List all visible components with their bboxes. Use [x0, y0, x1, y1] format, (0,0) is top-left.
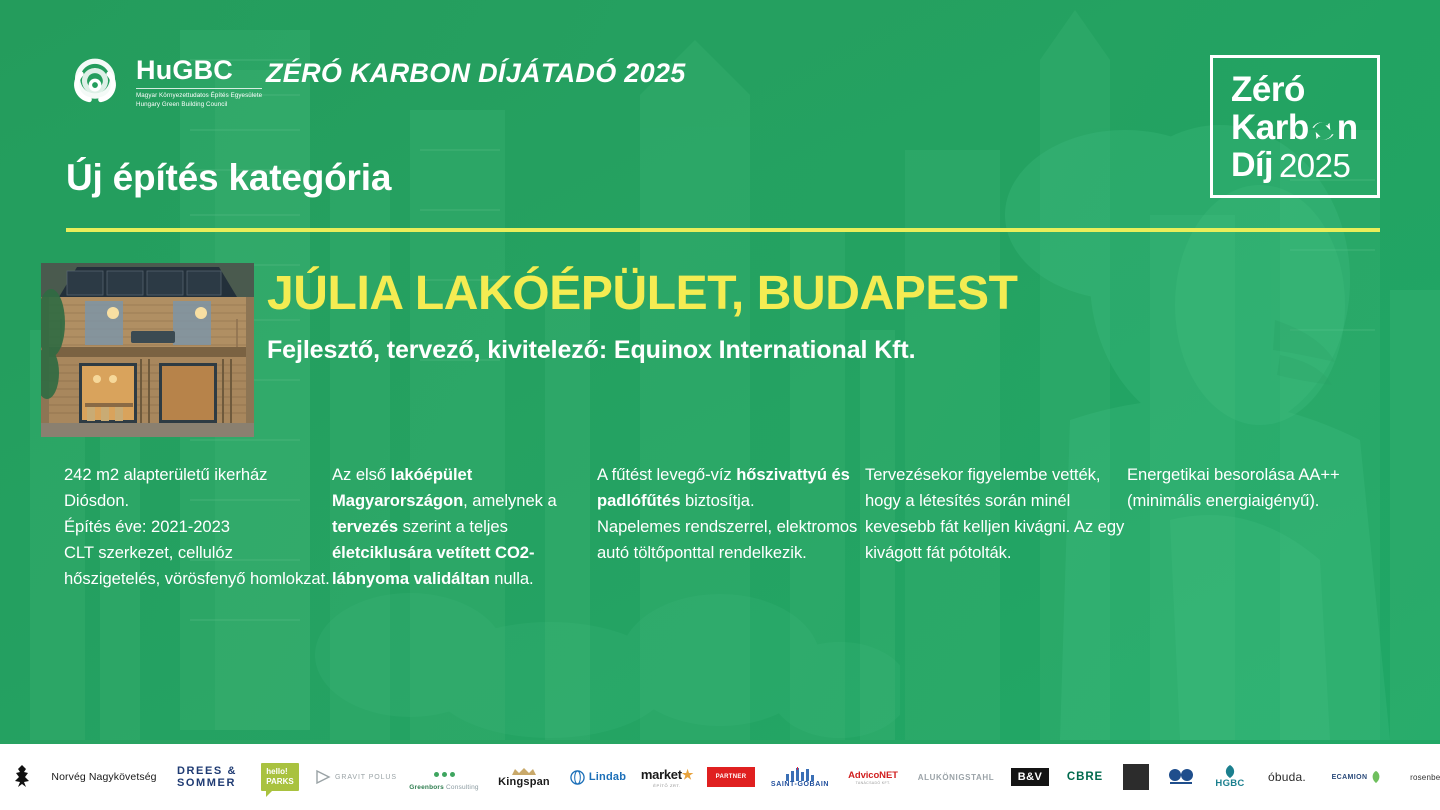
fact-columns: 242 m2 alapterületű ikerház Diósdon.Épít… [64, 462, 1384, 591]
lindab-globe-icon [570, 770, 585, 785]
fact-text-bold: tervezés [332, 517, 398, 536]
project-title: JÚLIA LAKÓÉPÜLET, BUDAPEST [267, 266, 1018, 321]
sponsor-greenbors-consulting[interactable]: Greenbors Consulting [402, 744, 486, 810]
hugbc-divider [136, 88, 262, 89]
wooden-house-illustration [41, 263, 254, 437]
badge-line-karbon: Karb n [1231, 110, 1358, 145]
saint-gobain-skyline-icon [783, 767, 817, 781]
fact-text: biztosítja. [680, 491, 754, 510]
sponsor-label: Kingspan [498, 776, 550, 788]
sponsor-adviconet[interactable]: AdvicoNET TANÁCSADÓ KFT. [838, 744, 908, 810]
sponsor-label: ECAMION [1332, 774, 1368, 781]
hugbc-trefoil-icon [66, 52, 124, 110]
slide-header: HuGBC Magyar Környezettudatos Építés Egy… [0, 0, 1440, 140]
sponsor-hello-parks[interactable]: hello! PARKS [250, 744, 310, 810]
sponsor-lindab[interactable]: Lindab [562, 744, 634, 810]
fact-text: A fűtést levegő-víz [597, 465, 736, 484]
sponsor-norway-crest[interactable] [0, 744, 44, 810]
badge-dij-text: Díj [1231, 148, 1273, 182]
hugbc-wordmark: HuGBC [136, 56, 262, 84]
hugbc-subtitle-en: Hungary Green Building Council [136, 101, 262, 110]
sponsor-label: CBRE [1067, 771, 1103, 783]
sponsor-kingspan[interactable]: Kingspan [486, 744, 562, 810]
fact-text: Napelemes rendszerrel, elektromos autó t… [597, 517, 857, 562]
drees-line1: DREES & [177, 765, 237, 777]
zero-carbon-award-badge: Zéró Karb n Díj 2025 [1210, 55, 1380, 198]
sponsor-hgbc[interactable]: HGBC [1204, 744, 1256, 810]
fact-line: CLT szerkezet, cellulóz hőszigetelés, vö… [64, 540, 332, 592]
sponsor-label: Norvég Nagykövetség [51, 771, 156, 783]
drees-line2: SOMMER [177, 777, 236, 789]
fact-line: Építés éve: 2021-2023 [64, 514, 332, 540]
fact-text: szerint a teljes [398, 517, 508, 536]
sponsor-label: AdvicoNET [848, 770, 898, 781]
event-title: ZÉRÓ KARBON DÍJÁTADÓ 2025 [266, 58, 686, 89]
background-portrait-silhouette [920, 120, 1440, 740]
fact-column-first-in-hungary: Az első lakóépület Magyarországon, amely… [332, 462, 597, 591]
sponsor-obuda[interactable]: óbuda. [1256, 744, 1318, 810]
fact-line: Tervezésekor figyelembe vették, hogy a l… [865, 462, 1127, 566]
sponsor-label: Lindab [589, 771, 626, 783]
badge-line-zero: Zéró [1231, 72, 1358, 107]
fact-column-heating: A fűtést levegő-víz hőszivattyú és padló… [597, 462, 865, 591]
market-word: market [641, 767, 682, 782]
fact-line: 242 m2 alapterületű ikerház Diósdon. [64, 462, 332, 514]
badge-year: 2025 [1279, 149, 1350, 182]
sponsor-label: ALUKÖNIGSTAHL [918, 773, 995, 782]
sponsor-label: hello! PARKS [261, 763, 298, 790]
fact-column-trees: Tervezésekor figyelembe vették, hogy a l… [865, 462, 1127, 591]
sponsor-market[interactable]: market★ ÉPÍTŐ ZRT. [634, 744, 700, 810]
greenbors-dots [434, 764, 455, 782]
sponsor-rosenberg[interactable]: rosenberg [1396, 744, 1440, 810]
sponsor-norveg-nagykovetseg[interactable]: Norvég Nagykövetség [44, 744, 164, 810]
sponsor-alukonigstahl[interactable]: ALUKÖNIGSTAHL [908, 744, 1004, 810]
sponsor-label: SAINT-GOBAIN [771, 781, 829, 788]
market-sub: ÉPÍTŐ ZRT. [653, 783, 680, 788]
sponsor-label: DREES & SOMMER [177, 765, 237, 790]
sponsor-label: B&V [1011, 768, 1049, 786]
sponsor-bv[interactable]: B&V [1004, 744, 1056, 810]
adviconet-sub: TANÁCSADÓ KFT. [856, 781, 891, 785]
project-subtitle: Fejlesztő, tervező, kivitelező: Equinox … [267, 336, 915, 365]
fact-text: , amelynek a [463, 491, 556, 510]
sponsor-label: óbuda. [1268, 770, 1306, 784]
sponsor-saint-gobain[interactable]: SAINT-GOBAIN [762, 744, 838, 810]
badge-n-text: n [1337, 110, 1358, 145]
hugbc-subtitle-hu: Magyar Környezettudatos Építés Egyesület… [136, 92, 262, 101]
hugbc-logo: HuGBC Magyar Környezettudatos Építés Egy… [66, 52, 262, 110]
sponsor-label: GRAVIT POLUS [335, 774, 397, 781]
blue-eyes-icon [1168, 768, 1194, 786]
fact-text: nulla. [490, 569, 534, 588]
sponsor-logo-mark [1123, 764, 1149, 790]
ecamion-leaf-icon [1370, 771, 1382, 783]
hello-line1: hello! [266, 767, 293, 776]
sponsor-label: market★ [641, 767, 693, 783]
sponsor-dark-mark[interactable] [1114, 744, 1158, 810]
badge-karb-text: Karb [1231, 110, 1309, 145]
sponsor-drees-sommer[interactable]: DREES & SOMMER [164, 744, 250, 810]
greenbors-name: Greenbors [409, 784, 444, 791]
sponsor-label: rosenberg [1410, 773, 1440, 782]
hgbc-leaf-icon [1222, 765, 1238, 778]
sponsor-gravit-polus[interactable]: GRAVIT POLUS [310, 744, 402, 810]
category-title: Új építés kategória [66, 157, 391, 199]
sponsor-label: PARTNER [707, 767, 756, 787]
fact-column-specs: 242 m2 alapterületű ikerház Diósdon.Épít… [64, 462, 332, 591]
yellow-divider-rule [66, 228, 1380, 232]
kingspan-crown-icon [511, 767, 537, 776]
fact-text: Az első [332, 465, 391, 484]
sponsor-bar: Norvég Nagykövetség DREES & SOMMER hello… [0, 744, 1440, 810]
sponsor-label: HGBC [1215, 778, 1244, 789]
sponsor-red-partner[interactable]: PARTNER [700, 744, 762, 810]
hello-line2: PARKS [266, 777, 293, 786]
sponsor-blue-mark[interactable] [1158, 744, 1204, 810]
fact-column-energy-rating: Energetikai besorolása AA++ (minimális e… [1127, 462, 1384, 591]
greenbors-suffix: Consulting [446, 784, 479, 791]
sponsor-label: Greenbors Consulting [409, 784, 478, 791]
sponsor-cbre[interactable]: CBRE [1056, 744, 1114, 810]
badge-line-dij-year: Díj 2025 [1231, 148, 1358, 182]
gravit-triangle-icon [315, 769, 331, 785]
norway-lion-crest-icon [11, 764, 33, 790]
fact-line: Energetikai besorolása AA++ (minimális e… [1127, 462, 1384, 514]
project-photo [41, 263, 254, 437]
recycle-o-icon [1310, 118, 1336, 144]
sponsor-ecamion[interactable]: ECAMION [1318, 744, 1396, 810]
presentation-slide: HuGBC Magyar Környezettudatos Építés Egy… [0, 0, 1440, 810]
